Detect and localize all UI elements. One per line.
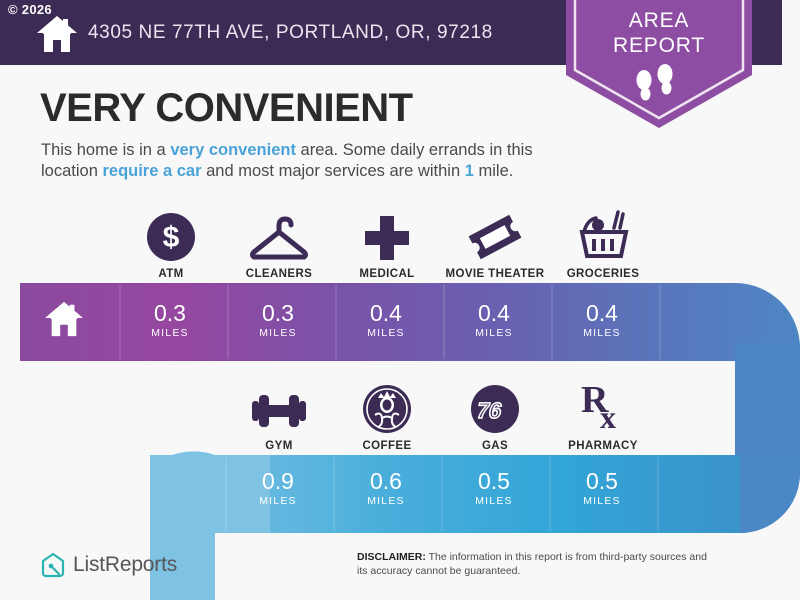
category-medical[interactable]: MEDICAL xyxy=(332,200,442,280)
distance-value: 0.6 xyxy=(332,468,440,494)
category-gas[interactable]: 76 GAS xyxy=(440,372,550,452)
desc-part-1: This home is in a xyxy=(41,141,170,159)
disclaimer: DISCLAIMER: The information in this repo… xyxy=(357,551,707,578)
category-coffee[interactable]: COFFEE xyxy=(332,372,442,452)
distance-unit: MILES xyxy=(332,327,440,339)
category-label: MEDICAL xyxy=(332,268,442,280)
distance-value: 0.3 xyxy=(224,300,332,326)
distance-value: 0.4 xyxy=(332,300,440,326)
distance-value: 0.4 xyxy=(548,300,656,326)
header-home-icon xyxy=(36,14,78,54)
desc-highlight-1: very convenient xyxy=(170,141,296,159)
distance-unit: MILES xyxy=(548,495,656,507)
distance-value: 0.5 xyxy=(548,468,656,494)
distance-medical: 0.4 MILES xyxy=(332,300,440,339)
distance-gym: 0.9 MILES xyxy=(224,468,332,507)
area-report-badge: AREA REPORT xyxy=(566,0,752,130)
distance-coffee: 0.6 MILES xyxy=(332,468,440,507)
distance-cleaners: 0.3 MILES xyxy=(224,300,332,339)
distance-groceries: 0.4 MILES xyxy=(548,300,656,339)
grocery-basket-icon xyxy=(548,200,658,262)
distance-unit: MILES xyxy=(224,327,332,339)
starbucks-icon xyxy=(332,372,442,434)
category-label: COFFEE xyxy=(332,440,442,452)
logo-text: ListReports xyxy=(73,553,177,577)
page-title: VERY CONVENIENT xyxy=(40,86,413,131)
medical-cross-icon xyxy=(332,200,442,262)
category-label: PHARMACY xyxy=(548,440,658,452)
gas-76-icon: 76 xyxy=(440,372,550,434)
desc-part-3: and most major services are within xyxy=(202,162,465,180)
distance-movie-theater: 0.4 MILES xyxy=(440,300,548,339)
desc-part-4: mile. xyxy=(474,162,513,180)
dumbbell-icon xyxy=(224,372,334,434)
disclaimer-label: DISCLAIMER: xyxy=(357,551,426,563)
ribbon-home-icon xyxy=(44,300,84,343)
distance-unit: MILES xyxy=(332,495,440,507)
badge-label: AREA REPORT xyxy=(566,8,752,58)
distance-atm: 0.3 MILES xyxy=(116,300,224,339)
category-label: GAS xyxy=(440,440,550,452)
distance-unit: MILES xyxy=(224,495,332,507)
distance-value: 0.5 xyxy=(440,468,548,494)
category-label: CLEANERS xyxy=(224,268,334,280)
rx-icon: R x xyxy=(548,372,658,434)
distance-unit: MILES xyxy=(440,327,548,339)
category-label: GROCERIES xyxy=(548,268,658,280)
badge-line-2: REPORT xyxy=(566,33,752,58)
distance-unit: MILES xyxy=(116,327,224,339)
distance-value: 0.9 xyxy=(224,468,332,494)
category-label: ATM xyxy=(116,268,226,280)
hanger-icon xyxy=(224,200,334,262)
category-groceries[interactable]: GROCERIES xyxy=(548,200,658,280)
category-label: MOVIE THEATER xyxy=(440,268,550,280)
category-movie-theater[interactable]: MOVIE THEATER xyxy=(440,200,550,280)
svg-text:$: $ xyxy=(163,221,180,254)
distance-gas: 0.5 MILES xyxy=(440,468,548,507)
ticket-icon xyxy=(440,200,550,262)
category-cleaners[interactable]: CLEANERS xyxy=(224,200,334,280)
category-atm[interactable]: $ ATM xyxy=(116,200,226,280)
badge-line-1: AREA xyxy=(566,8,752,33)
listreports-logo[interactable]: ListReports xyxy=(40,552,177,578)
property-address: 4305 NE 77TH AVE, PORTLAND, OR, 97218 xyxy=(88,22,493,44)
svg-text:x: x xyxy=(600,399,616,434)
dollar-circle-icon: $ xyxy=(116,200,226,262)
distance-value: 0.3 xyxy=(116,300,224,326)
distance-unit: MILES xyxy=(440,495,548,507)
desc-highlight-2: require a car xyxy=(102,162,201,180)
desc-highlight-3: 1 xyxy=(465,162,474,180)
distance-unit: MILES xyxy=(548,327,656,339)
description-text: This home is in a very convenient area. … xyxy=(41,140,571,182)
distance-value: 0.4 xyxy=(440,300,548,326)
category-pharmacy[interactable]: R x PHARMACY xyxy=(548,372,658,452)
category-gym[interactable]: GYM xyxy=(224,372,334,452)
area-report-page: © 2026 4305 NE 77TH AVE, PORTLAND, OR, 9… xyxy=(0,0,800,600)
category-label: GYM xyxy=(224,440,334,452)
listreports-house-tag-icon xyxy=(40,552,66,578)
distance-pharmacy: 0.5 MILES xyxy=(548,468,656,507)
